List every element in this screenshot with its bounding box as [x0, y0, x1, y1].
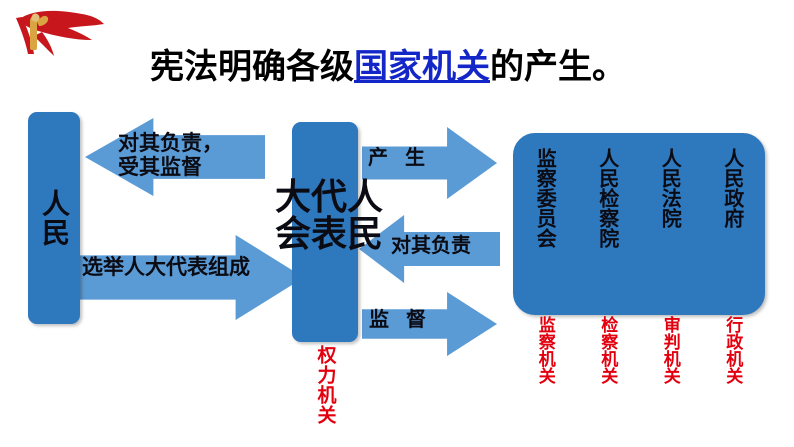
state-organ-item: 人民检察院: [598, 148, 618, 248]
state-organ-item: 人民政府: [723, 148, 743, 228]
state-organ-caption: 审判机关: [661, 316, 678, 384]
arrow-accountable-to-npc-label: 对其负责: [391, 234, 491, 257]
arrow-supervise-label: 监 督: [369, 308, 439, 331]
npc-box: 人民代表大会: [292, 122, 358, 342]
red-flag-torch-logo: [8, 6, 108, 58]
state-organs-list: 人民政府 人民法院 人民检察院 监察委员会: [514, 134, 764, 314]
state-organ-caption: 检察机关: [598, 316, 615, 384]
arrow-elect-deputies-label: 选举人大代表组成: [82, 255, 252, 279]
title-highlight: 国家机关: [354, 39, 490, 88]
arrow-produce-label: 产 生: [368, 146, 438, 169]
page-title: 宪法明确各级国家机关的产生。: [150, 36, 670, 90]
title-suffix: 的产生。: [490, 39, 626, 88]
npc-caption-label: 权力机关: [316, 345, 335, 445]
title-prefix: 宪法明确各级: [150, 39, 354, 88]
state-organ-item: 监察委员会: [535, 148, 555, 248]
state-organs-captions: 行政机关 审判机关 检察机关 监察机关: [513, 316, 763, 426]
state-organ-item: 人民法院: [660, 148, 680, 228]
npc-box-label: 人民代表大会: [271, 178, 379, 287]
npc-caption: 权力机关: [305, 345, 345, 445]
people-box-label: 人民: [40, 189, 68, 247]
state-organ-caption: 行政机关: [723, 316, 740, 384]
slide-canvas: 宪法明确各级国家机关的产生。 对其负责， 受其监督 选举人大代表组成 产 生 对…: [0, 0, 794, 447]
state-organ-caption: 监察机关: [536, 316, 553, 384]
arrow-accountable-to-people-label: 对其负责， 受其监督: [118, 131, 266, 179]
state-organs-box: 人民政府 人民法院 人民检察院 监察委员会: [513, 133, 765, 315]
people-box: 人民: [28, 112, 80, 324]
